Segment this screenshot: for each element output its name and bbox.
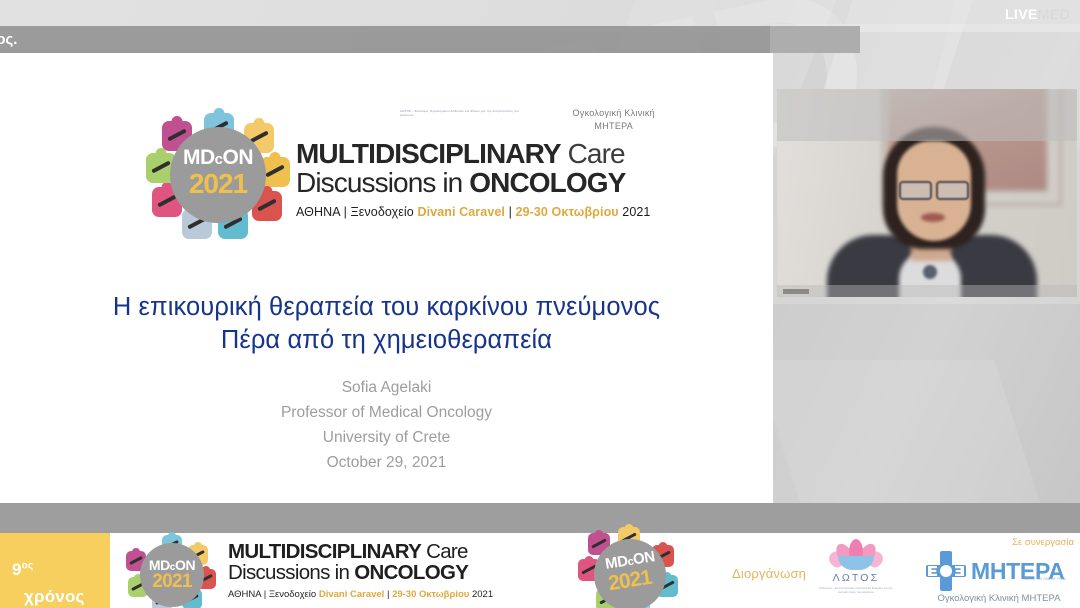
banner-conference-venue-line: ΑΘΗΝΑ | Ξενοδοχείο Divani Caravel | 29-3… — [228, 588, 558, 602]
conference-title-block: MULTIDISCIPLINARY Care Discussions in ON… — [296, 139, 696, 221]
mdcon-logo-year: 2021 — [170, 169, 266, 199]
conference-title-line-1: MULTIDISCIPLINARY Care — [296, 139, 696, 168]
speaker-glasses — [899, 181, 969, 197]
mitera-logo-row: ΜΗΤΕΡΑ — [926, 551, 1065, 591]
banner-conference-line-1: MULTIDISCIPLINARY Care — [228, 541, 558, 562]
banner-conference-line-2: Discussions in ONCOLOGY — [228, 562, 558, 584]
lotus-flower-icon — [830, 539, 882, 569]
presentation-slide[interactable]: ΛΩΤΟΣ - Σύλλογος Ογκολογικών Ασθενών και… — [0, 53, 773, 503]
speaker-necklace — [923, 265, 937, 279]
slide-header-note: ΛΩΤΟΣ - Σύλλογος Ογκολογικών Ασθενών και… — [400, 109, 520, 117]
background-shape — [754, 360, 1046, 520]
lotos-logo-name: ΛΩΤΟΣ — [812, 572, 900, 584]
webcam-bottom-haze — [777, 285, 1077, 297]
mdcon-logo-year: 2021 — [140, 571, 204, 593]
bottom-gap-bar — [0, 503, 1080, 533]
webcam-top-haze — [777, 89, 1077, 141]
slide-title: Η επικουρική θεραπεία του καρκίνου πνεύμ… — [0, 291, 773, 357]
conference-venue-line: ΑΘΗΝΑ | Ξενοδοχείο Divani Caravel | 29-3… — [296, 203, 696, 221]
slide-clinic-line-2: ΜΗΤΕΡΑ — [572, 120, 655, 133]
mdcon-logo-name: MDcON — [170, 147, 266, 170]
speaker-mouth — [921, 213, 945, 222]
banner-mdcon-logo-secondary: MDcON 2021 — [578, 531, 688, 608]
stream-viewport: MD LIVEMED νος. ΛΩΤΟΣ - Σύλλογος Ογκολογ… — [0, 0, 1080, 608]
mitera-logo-fineprint: ΜΕΛΟΣ ΤΟΥ ΟΜΙΛΟΥ ΥΓΕΙΑ — [1024, 577, 1066, 581]
banner-mdcon-logo: MDcON 2021 — [126, 533, 218, 608]
cooperation-label: Σε συνεργασία — [1012, 537, 1074, 548]
speaker-name: Sofia Agelaki — [0, 375, 773, 400]
slide-title-line-2: Πέρα από τη χημειοθεραπεία — [0, 324, 773, 357]
sponsor-banner: 9ος χρόνος MDcON 2021 MULTIDISCIPLINARY … — [0, 533, 1080, 608]
mitera-logo-caption: Ογκολογική Κλινική ΜΗΤΕΡΑ — [920, 593, 1078, 604]
slide-title-line-1: Η επικουρική θεραπεία του καρκίνου πνεύμ… — [0, 291, 773, 324]
slide-byline: Sofia Agelaki Professor of Medical Oncol… — [0, 375, 773, 475]
caption-text: νος. — [0, 30, 288, 50]
lotos-logo: ΛΩΤΟΣ Σύλλογος - Διεπιστημονική Ογκολογι… — [812, 539, 900, 594]
lotos-logo-subtitle: Σύλλογος - Διεπιστημονική Ογκολογική Ετα… — [812, 586, 900, 594]
livemed-logo: LIVEMED — [1005, 6, 1070, 22]
speaker-affiliation: University of Crete — [0, 425, 773, 450]
slide-clinic-credit: Ογκολογική Κλινική ΜΗΤΕΡΑ — [572, 107, 655, 133]
livemed-logo-live: LIVE — [1005, 6, 1038, 22]
anniversary-badge: 9ος χρόνος — [0, 533, 110, 608]
slide-date: October 29, 2021 — [0, 450, 773, 475]
speaker-role: Professor of Medical Oncology — [0, 400, 773, 425]
mdcon-logo: MDcON 2021 — [148, 109, 288, 237]
conference-title-line-2: Discussions in ONCOLOGY — [296, 168, 696, 198]
anniversary-badge-text: 9ος χρόνος — [12, 560, 33, 580]
livemed-logo-med: MED — [1038, 6, 1070, 22]
medical-cross-icon — [926, 551, 966, 591]
speaker-webcam-video[interactable] — [777, 89, 1077, 297]
organizer-label: Διοργάνωση — [732, 566, 806, 581]
webcam-name-tag — [783, 289, 809, 294]
slide-clinic-line-1: Ογκολογική Κλινική — [572, 107, 655, 120]
banner-conference-title-block: MULTIDISCIPLINARY Care Discussions in ON… — [228, 541, 558, 602]
